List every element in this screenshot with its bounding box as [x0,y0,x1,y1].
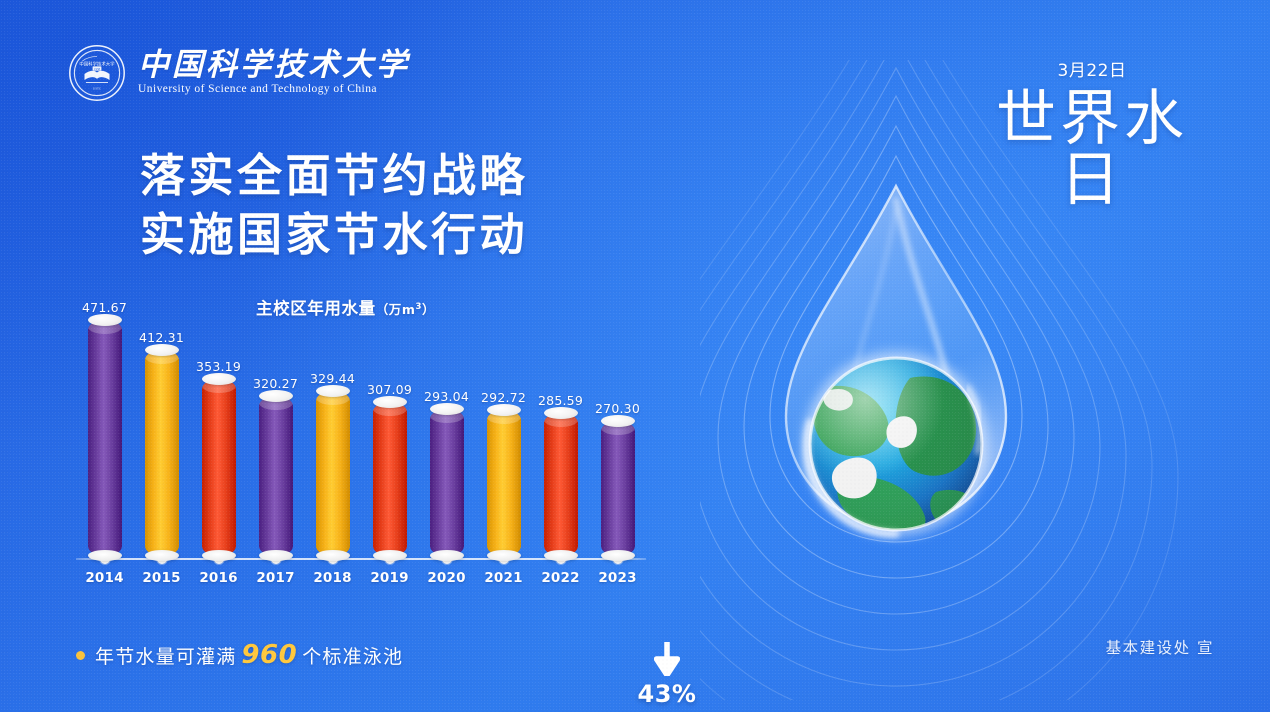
bar-cylinder [601,421,635,556]
bar-2021: 292.72 [487,390,521,556]
world-water-day-block: 3月22日 世界水日 [972,56,1212,211]
bar-cylinder [373,402,407,556]
bar-2022: 285.59 [544,393,578,556]
bar-cylinder [202,379,236,556]
bar-2016: 353.19 [202,359,236,556]
bar-body [202,379,236,556]
reduction-callout: 43% [636,642,698,708]
bar-value-label: 471.67 [82,300,127,315]
bar-cylinder [259,396,293,556]
footnote-suffix: 个标准泳池 [302,646,403,668]
svg-text:USTC: USTC [93,86,101,90]
down-arrow-icon [654,642,680,676]
bar-2018: 329.44 [316,371,350,556]
signature: 基本建设处 宣 [1106,636,1214,658]
footnote-text: 年节水量可灌满960个标准泳池 [95,640,403,670]
bar-fill [430,409,464,556]
bar-cylinder [145,350,179,556]
bar-fill [316,391,350,556]
poster-canvas: 中国科学技术大学 1958 USTC 中国科学技术大学 University o… [0,0,1270,712]
bar-cylinder [430,409,464,556]
bar-cylinder [88,320,122,556]
bar-2015: 412.31 [145,330,179,556]
svg-text:1958: 1958 [94,67,101,71]
axis-label-2019: 2019 [367,570,413,586]
bar-body [430,409,464,556]
bar-2017: 320.27 [259,376,293,556]
bar-value-label: 307.09 [367,382,412,397]
bar-value-label: 320.27 [253,376,298,391]
bar-body [259,396,293,556]
bar-value-label: 292.72 [481,390,526,405]
bar-fill [373,402,407,556]
bar-fill [601,421,635,556]
bar-body [601,421,635,556]
logo-text-block: 中国科学技术大学 University of Science and Techn… [138,49,410,97]
chart-plot-area: 471.67412.31353.19320.27329.44307.09293.… [76,306,646,556]
footnote-number: 960 [236,640,302,670]
axis-label-2020: 2020 [424,570,470,586]
axis-label-2014: 2014 [82,570,128,586]
axis-label-2023: 2023 [595,570,641,586]
bar-value-label: 293.04 [424,389,469,404]
bar-fill [487,410,521,556]
bar-value-label: 270.30 [595,401,640,416]
axis-label-2021: 2021 [481,570,527,586]
bar-cylinder [487,410,521,556]
axis-label-2018: 2018 [310,570,356,586]
bar-2014: 471.67 [88,300,122,556]
bar-top-ellipse [544,407,578,419]
bar-top-ellipse [88,314,122,326]
wwd-title: 世界水日 [972,89,1212,211]
axis-label-2015: 2015 [139,570,185,586]
bar-top-ellipse [145,344,179,356]
footnote-prefix: 年节水量可灌满 [95,646,236,668]
bar-top-ellipse [259,390,293,402]
logo-name-en: University of Science and Technology of … [138,83,410,97]
bar-2023: 270.30 [601,401,635,556]
bar-body [373,402,407,556]
bar-cylinder [316,391,350,556]
bar-value-label: 329.44 [310,371,355,386]
logo-name-cn: 中国科学技术大学 [138,49,410,82]
ustc-emblem: 中国科学技术大学 1958 USTC [68,44,126,102]
ustc-logo: 中国科学技术大学 1958 USTC 中国科学技术大学 University o… [68,44,410,102]
bar-body [88,320,122,556]
bar-fill [202,379,236,556]
bullet-dot-icon [76,651,85,660]
axis-label-2017: 2017 [253,570,299,586]
bar-top-ellipse [601,415,635,427]
headline: 落实全面节约战略 实施国家节水行动 [140,146,528,265]
bar-fill [88,320,122,556]
bar-value-label: 353.19 [196,359,241,374]
bar-2019: 307.09 [373,382,407,556]
bar-value-label: 412.31 [139,330,184,345]
bar-fill [145,350,179,556]
bar-top-ellipse [202,373,236,385]
bar-cylinder [544,413,578,556]
bar-2020: 293.04 [430,389,464,556]
reduction-percent: 43% [636,680,698,708]
headline-line-2: 实施国家节水行动 [140,205,528,264]
headline-line-1: 落实全面节约战略 [140,146,528,205]
bar-top-ellipse [373,396,407,408]
wwd-date: 3月22日 [972,56,1212,81]
footnote: 年节水量可灌满960个标准泳池 [76,640,403,670]
bar-body [145,350,179,556]
bar-top-ellipse [487,404,521,416]
bar-body [487,410,521,556]
bar-value-label: 285.59 [538,393,583,408]
axis-label-2022: 2022 [538,570,584,586]
water-usage-chart: 主校区年用水量（万m3） 471.67412.31353.19320.27329… [60,286,660,602]
bar-fill [259,396,293,556]
bar-fill [544,413,578,556]
bar-top-ellipse [430,403,464,415]
bar-top-ellipse [316,385,350,397]
axis-label-2016: 2016 [196,570,242,586]
bar-body [316,391,350,556]
bar-body [544,413,578,556]
